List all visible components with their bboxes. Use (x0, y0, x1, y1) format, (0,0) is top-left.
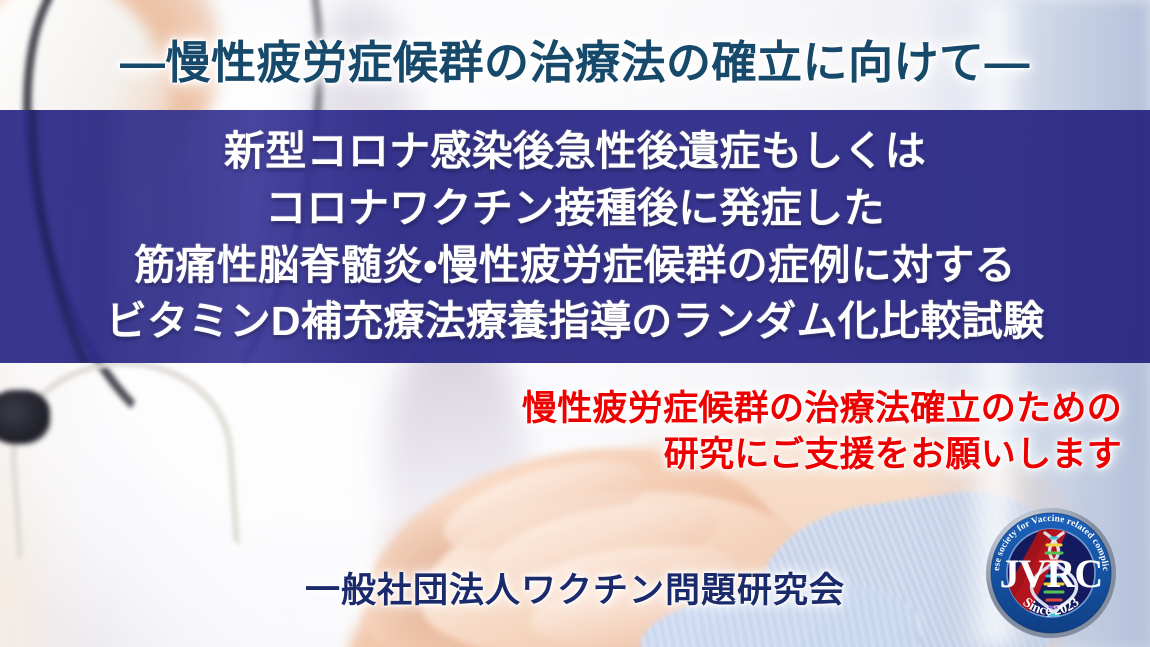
study-title-panel: 新型コロナ感染後急性後遺症もしくは コロナワクチン接種後に発症した 筋痛性脳脊髄… (0, 110, 1150, 363)
poster-root: ―慢性疲労症候群の治療法の確立に向けて― 新型コロナ感染後急性後遺症もしくは コ… (0, 0, 1150, 647)
study-title-line-4: ビタミンD補充療法療養指導のランダム化比較試験 (106, 294, 1045, 349)
stethoscope-chestpiece (0, 390, 50, 444)
jvrc-logo-seal: JVRC Japanese society for Vaccine relate… (985, 507, 1117, 639)
poster-headline: ―慢性疲労症候群の治療法の確立に向けて― (0, 26, 1150, 91)
seal-acronym-text: JVRC (1000, 551, 1103, 596)
study-title-line-1: 新型コロナ感染後急性後遺症もしくは (224, 124, 926, 179)
study-title-line-3: 筋痛性脳脊髄炎・慢性疲労症候群の症例に対する (134, 238, 1016, 293)
support-appeal-line-2: 研究にご支援をお願いします (522, 432, 1122, 478)
support-appeal: 慢性疲労症候群の治療法確立のための 研究にご支援をお願いします (522, 386, 1122, 478)
organization-name: 一般社団法人ワクチン問題研究会 (305, 562, 845, 613)
support-appeal-line-1: 慢性疲労症候群の治療法確立のための (522, 386, 1122, 432)
study-title-line-2: コロナワクチン接種後に発症した (265, 181, 885, 236)
